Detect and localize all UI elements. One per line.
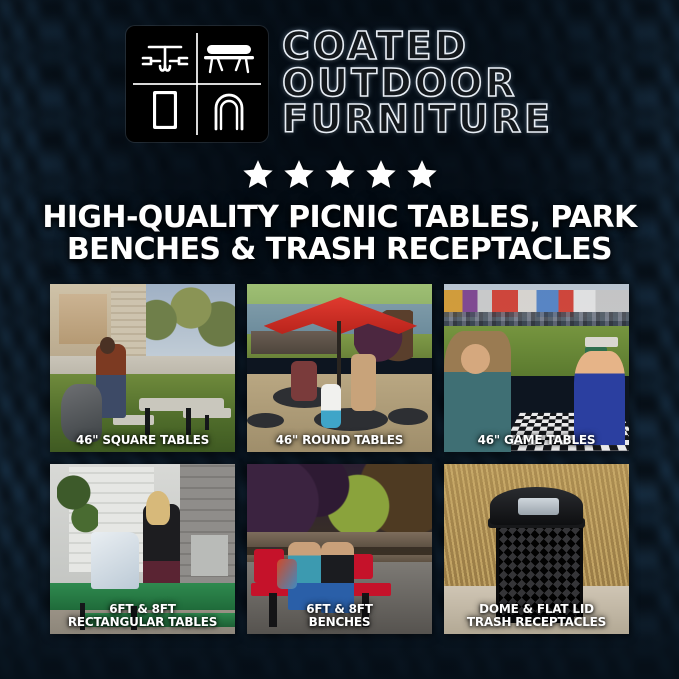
product-caption: DOME & FLAT LID TRASH RECEPTACLES [444, 603, 629, 628]
headline-line-1: HIGH-QUALITY PICNIC TABLES, PARK [18, 202, 661, 234]
product-card-trash-receptacles[interactable]: DOME & FLAT LID TRASH RECEPTACLES [444, 464, 629, 634]
product-caption: 46" GAME TABLES [444, 434, 629, 447]
caption-line: RECTANGULAR TABLES [53, 616, 232, 629]
product-caption: 46" SQUARE TABLES [50, 434, 235, 447]
product-grid: 46" SQUARE TABLES [50, 284, 629, 634]
star-icon [406, 158, 438, 190]
brand-logo: COATED OUTDOOR FURNITURE [0, 0, 679, 142]
caption-line: BENCHES [250, 616, 429, 629]
bike-rack-icon [197, 84, 261, 135]
product-card-game-tables[interactable]: 46" GAME TABLES [444, 284, 629, 452]
promo-banner: COATED OUTDOOR FURNITURE HIGH-QUALITY PI… [0, 0, 679, 679]
rating-stars [0, 158, 679, 190]
caption-line: 46" GAME TABLES [447, 434, 626, 447]
headline-line-2: BENCHES & TRASH RECEPTACLES [18, 234, 661, 266]
furniture-quad-icon [126, 26, 268, 142]
star-icon [324, 158, 356, 190]
brand-name-line-1: COATED [282, 28, 553, 64]
brand-name-line-2: OUTDOOR [282, 65, 553, 101]
trash-receptacle-icon [133, 84, 197, 135]
caption-line: DOME & FLAT LID [447, 603, 626, 616]
page-title: HIGH-QUALITY PICNIC TABLES, PARK BENCHES… [18, 202, 661, 266]
product-card-rectangular-tables[interactable]: 6FT & 8FT RECTANGULAR TABLES [50, 464, 235, 634]
star-icon [283, 158, 315, 190]
picnic-table-icon [133, 33, 197, 84]
game-tables-photo [444, 284, 629, 452]
product-caption: 6FT & 8FT BENCHES [247, 603, 432, 628]
product-card-square-tables[interactable]: 46" SQUARE TABLES [50, 284, 235, 452]
park-bench-icon [197, 33, 261, 84]
caption-line: 6FT & 8FT [53, 603, 232, 616]
brand-name-line-3: FURNITURE [282, 101, 553, 137]
product-card-benches[interactable]: 6FT & 8FT BENCHES [247, 464, 432, 634]
caption-line: 6FT & 8FT [250, 603, 429, 616]
product-caption: 6FT & 8FT RECTANGULAR TABLES [50, 603, 235, 628]
product-card-round-tables[interactable]: 46" ROUND TABLES [247, 284, 432, 452]
product-caption: 46" ROUND TABLES [247, 434, 432, 447]
caption-line: 46" SQUARE TABLES [53, 434, 232, 447]
round-tables-photo [247, 284, 432, 452]
square-tables-photo [50, 284, 235, 452]
caption-line: 46" ROUND TABLES [250, 434, 429, 447]
caption-line: TRASH RECEPTACLES [447, 616, 626, 629]
banner-content: COATED OUTDOOR FURNITURE HIGH-QUALITY PI… [0, 0, 679, 634]
star-icon [365, 158, 397, 190]
star-icon [242, 158, 274, 190]
brand-name: COATED OUTDOOR FURNITURE [282, 28, 553, 139]
